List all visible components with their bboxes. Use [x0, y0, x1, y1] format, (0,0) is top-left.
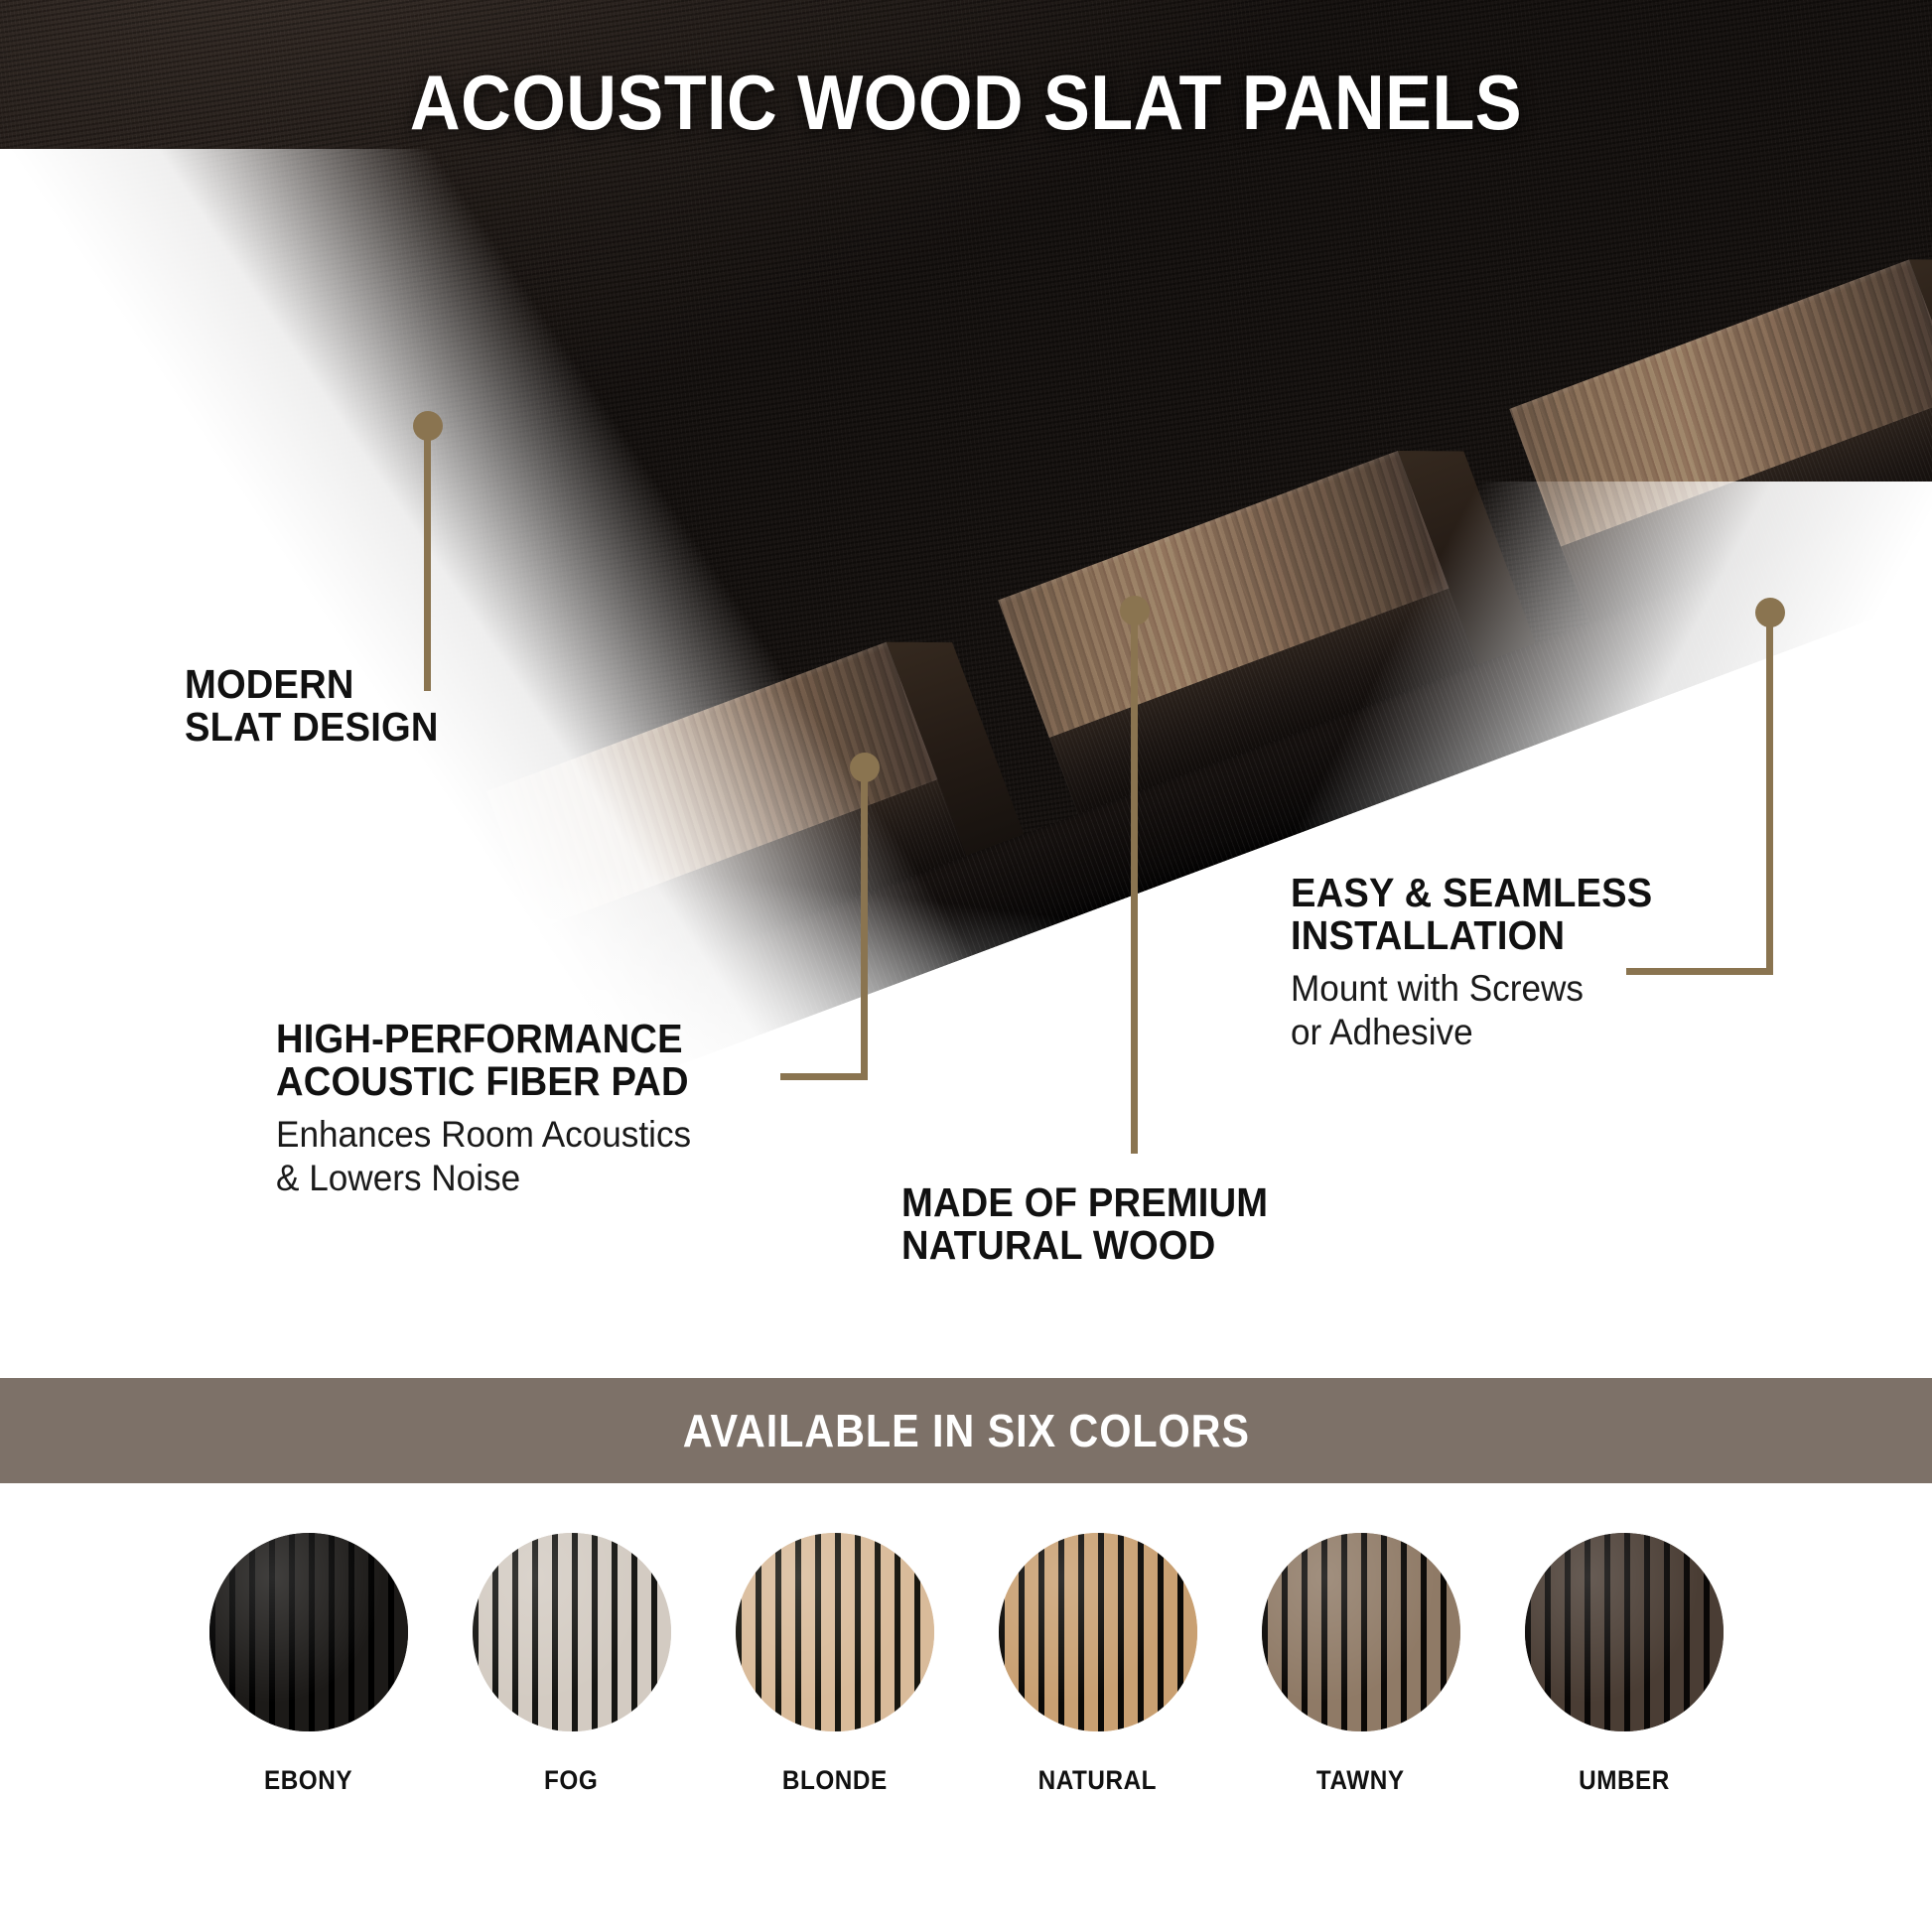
swatch-label: TAWNY: [1316, 1765, 1405, 1796]
banner-label: AVAILABLE IN SIX COLORS: [682, 1404, 1249, 1457]
swatch-disc: [1525, 1533, 1724, 1731]
callout-title-line-1: HIGH-PERFORMANCE: [276, 1018, 689, 1060]
swatch-label: BLONDE: [782, 1765, 888, 1796]
swatch-disc: [999, 1533, 1197, 1731]
swatch-label: UMBER: [1579, 1765, 1670, 1796]
swatch-label: EBONY: [264, 1765, 352, 1796]
swatch-disc: [473, 1533, 671, 1731]
callout-title-line-1: EASY & SEAMLESS: [1291, 872, 1652, 914]
color-swatch-natural[interactable]: NATURAL: [991, 1533, 1204, 1796]
available-colors-banner: AVAILABLE IN SIX COLORS: [0, 1378, 1932, 1483]
callout-title-line-1: MODERN: [185, 663, 439, 706]
callout-title-line-1: MADE OF PREMIUM: [901, 1181, 1268, 1224]
callout-acoustic-fiber-pad: HIGH-PERFORMANCE ACOUSTIC FIBER PAD Enha…: [276, 1018, 720, 1199]
color-swatch-fog[interactable]: FOG: [465, 1533, 678, 1796]
callout-title-line-2: SLAT DESIGN: [185, 706, 439, 749]
color-swatch-ebony[interactable]: EBONY: [202, 1533, 415, 1796]
callout-body-line-1: Enhances Room Acoustics: [276, 1113, 698, 1157]
page-title: ACOUSTIC WOOD SLAT PANELS: [96, 58, 1835, 148]
swatch-label: FOG: [544, 1765, 598, 1796]
swatch-disc: [1262, 1533, 1460, 1731]
callout-body-line-2: or Adhesive: [1291, 1011, 1660, 1054]
callout-premium-natural-wood: MADE OF PREMIUM NATURAL WOOD: [901, 1181, 1296, 1268]
callout-easy-installation: EASY & SEAMLESS INSTALLATION Mount with …: [1291, 872, 1680, 1053]
callout-modern-slat-design: MODERN SLAT DESIGN: [185, 663, 458, 750]
color-swatch-blonde[interactable]: BLONDE: [728, 1533, 941, 1796]
color-swatch-tawny[interactable]: TAWNY: [1254, 1533, 1467, 1796]
swatch-disc: [209, 1533, 408, 1731]
callout-title-line-2: ACOUSTIC FIBER PAD: [276, 1060, 689, 1103]
color-swatch-umber[interactable]: UMBER: [1517, 1533, 1730, 1796]
swatch-disc: [736, 1533, 934, 1731]
callout-body-line-2: & Lowers Noise: [276, 1157, 698, 1200]
color-swatch-row: EBONY FOG BLONDE NATURAL TAWNY UMBER: [0, 1483, 1932, 1932]
swatch-label: NATURAL: [1038, 1765, 1157, 1796]
callout-body-line-1: Mount with Screws: [1291, 967, 1660, 1011]
callout-title-line-2: INSTALLATION: [1291, 914, 1652, 957]
callout-title-line-2: NATURAL WOOD: [901, 1224, 1268, 1267]
